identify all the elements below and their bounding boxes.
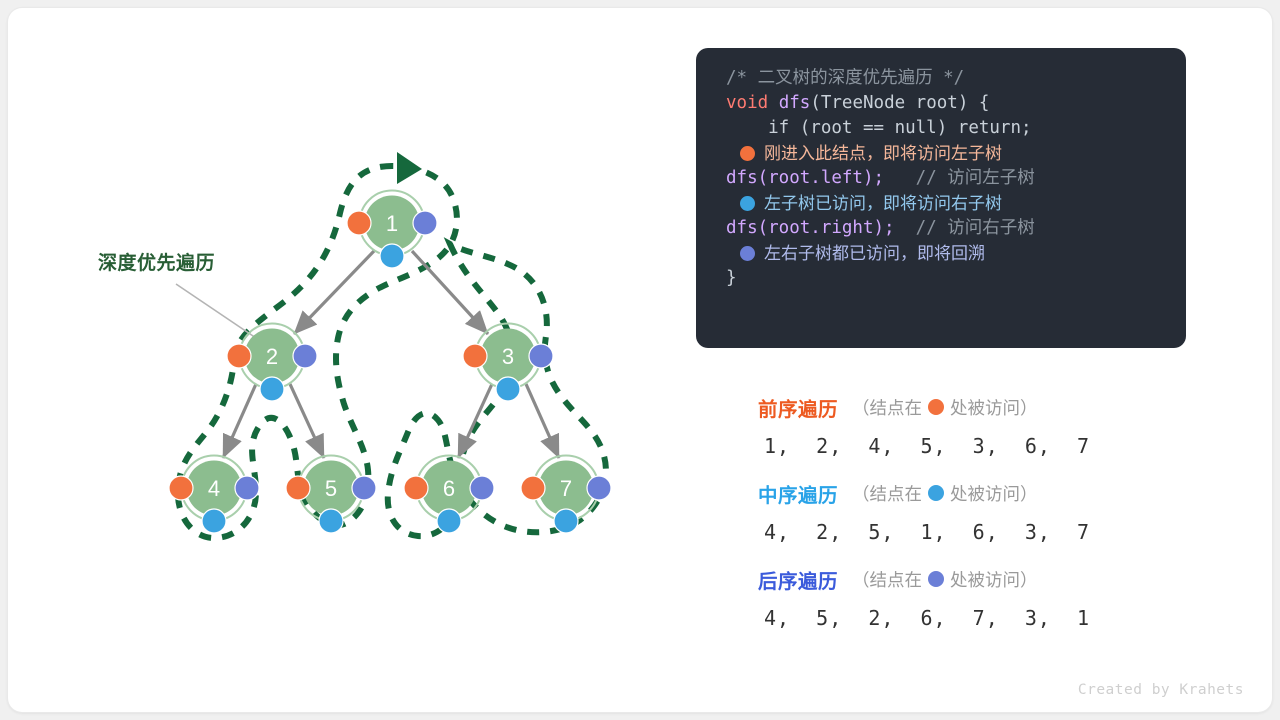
- code-fn-dfs: dfs: [779, 93, 811, 113]
- node-postorder-dot-icon: [587, 476, 611, 500]
- traversal-results: 前序遍历（结点在处被访问）1, 2, 4, 5, 3, 6, 7中序遍历（结点在…: [758, 390, 1178, 648]
- code-signature: void dfs(TreeNode root) {: [696, 91, 1186, 116]
- traversal-sequence: 4, 5, 2, 6, 7, 3, 1: [764, 606, 1178, 630]
- node-preorder-dot-icon: [521, 476, 545, 500]
- node-inorder-dot-icon: [319, 509, 343, 533]
- traversal-note-suffix: 处被访问）: [950, 481, 1038, 506]
- start-marker-icon: [397, 152, 422, 184]
- edge-1-2: [294, 251, 374, 334]
- code-snippet-panel: /* 二叉树的深度优先遍历 */ void dfs(TreeNode root)…: [696, 48, 1186, 348]
- node-preorder-dot-icon: [227, 344, 251, 368]
- node-inorder-dot-icon: [554, 509, 578, 533]
- code-note-postorder-text: 左右子树都已访问，即将回溯: [764, 241, 985, 266]
- traversal-head-2: 中序遍历（结点在处被访问）: [758, 476, 1178, 510]
- node-preorder-dot-icon: [463, 344, 487, 368]
- traversal-title: 前序遍历: [758, 393, 838, 422]
- node-postorder-dot-icon: [413, 211, 437, 235]
- node-inorder-dot-icon: [380, 244, 404, 268]
- tree-node-6[interactable]: 6: [404, 456, 494, 534]
- traversal-note-prefix: （结点在: [852, 567, 922, 592]
- figure-card: 1234567 深度优先遍历 /* 二叉树的深度优先遍历 */ void dfs…: [8, 8, 1272, 712]
- code-note-preorder-text: 刚进入此结点，即将访问左子树: [764, 141, 1002, 166]
- edge-1-3: [412, 251, 488, 334]
- code-call-left-fn: dfs(root.left);: [726, 168, 884, 188]
- code-signature-params: (TreeNode root) {: [810, 93, 989, 113]
- code-call-right-fn: dfs(root.right);: [726, 218, 895, 238]
- code-call-left: dfs(root.left); // 访问左子树: [696, 166, 1186, 191]
- tree-svg: 1234567: [8, 8, 668, 712]
- node-inorder-dot-icon: [496, 377, 520, 401]
- edge-3-6: [458, 384, 492, 458]
- node-inorder-dot-icon: [260, 377, 284, 401]
- traversal-head-3: 后序遍历（结点在处被访问）: [758, 562, 1178, 596]
- node-postorder-dot-icon: [470, 476, 494, 500]
- tree-node-5[interactable]: 5: [286, 456, 376, 534]
- inorder-dot-icon: [740, 196, 755, 211]
- node-value: 6: [443, 476, 455, 501]
- traversal-note: （结点在处被访问）: [852, 481, 1038, 506]
- code-null-check: if (root == null) return;: [696, 116, 1186, 141]
- traversal-title: 后序遍历: [758, 565, 838, 594]
- code-note-inorder-text: 左子树已访问，即将访问右子树: [764, 191, 1002, 216]
- traversal-head-1: 前序遍历（结点在处被访问）: [758, 390, 1178, 424]
- tree-node-1[interactable]: 1: [347, 191, 437, 269]
- node-postorder-dot-icon: [235, 476, 259, 500]
- node-value: 1: [386, 211, 398, 236]
- credit-text: Created by Krahets: [1078, 682, 1244, 698]
- traversal-note-suffix: 处被访问）: [950, 567, 1038, 592]
- traversal-note: （结点在处被访问）: [852, 567, 1038, 592]
- node-value: 4: [208, 476, 220, 501]
- binary-tree-diagram: 1234567 深度优先遍历: [8, 8, 668, 712]
- code-note-postorder: 左右子树都已访问，即将回溯: [696, 241, 1186, 266]
- code-call-right-comment: // 访问右子树: [916, 218, 1035, 238]
- traversal-note-prefix: （结点在: [852, 395, 922, 420]
- node-preorder-dot-icon: [169, 476, 193, 500]
- traversal-note-suffix: 处被访问）: [950, 395, 1038, 420]
- node-preorder-dot-icon: [286, 476, 310, 500]
- node-value: 7: [560, 476, 572, 501]
- node-value: 2: [266, 344, 278, 369]
- traversal-marker-dot-icon: [928, 571, 944, 587]
- preorder-dot-icon: [740, 146, 755, 161]
- code-call-right: dfs(root.right); // 访问右子树: [696, 216, 1186, 241]
- node-inorder-dot-icon: [202, 509, 226, 533]
- tree-node-2[interactable]: 2: [227, 324, 317, 402]
- tree-node-3[interactable]: 3: [463, 324, 553, 402]
- tree-node-7[interactable]: 7: [521, 456, 611, 534]
- node-preorder-dot-icon: [347, 211, 371, 235]
- traversal-marker-dot-icon: [928, 485, 944, 501]
- edge-3-7: [526, 384, 559, 458]
- traversal-note-prefix: （结点在: [852, 481, 922, 506]
- traversal-sequence: 1, 2, 4, 5, 3, 6, 7: [764, 434, 1178, 458]
- edge-2-5: [290, 384, 324, 458]
- code-call-left-comment: // 访问左子树: [916, 168, 1035, 188]
- annotation-leader-line: [176, 284, 256, 338]
- code-closing-brace: }: [696, 266, 1186, 291]
- dfs-annotation-label: 深度优先遍历: [98, 248, 215, 275]
- code-note-inorder: 左子树已访问，即将访问右子树: [696, 191, 1186, 216]
- traversal-sequence: 4, 2, 5, 1, 6, 3, 7: [764, 520, 1178, 544]
- node-preorder-dot-icon: [404, 476, 428, 500]
- code-comment-header: /* 二叉树的深度优先遍历 */: [696, 66, 1186, 91]
- node-postorder-dot-icon: [352, 476, 376, 500]
- postorder-dot-icon: [740, 246, 755, 261]
- node-inorder-dot-icon: [437, 509, 461, 533]
- node-postorder-dot-icon: [529, 344, 553, 368]
- traversal-title: 中序遍历: [758, 479, 838, 508]
- node-value: 3: [502, 344, 514, 369]
- traversal-marker-dot-icon: [928, 399, 944, 415]
- traversal-note: （结点在处被访问）: [852, 395, 1038, 420]
- node-value: 5: [325, 476, 337, 501]
- code-keyword-void: void: [726, 93, 768, 113]
- node-postorder-dot-icon: [293, 344, 317, 368]
- code-note-preorder: 刚进入此结点，即将访问左子树: [696, 141, 1186, 166]
